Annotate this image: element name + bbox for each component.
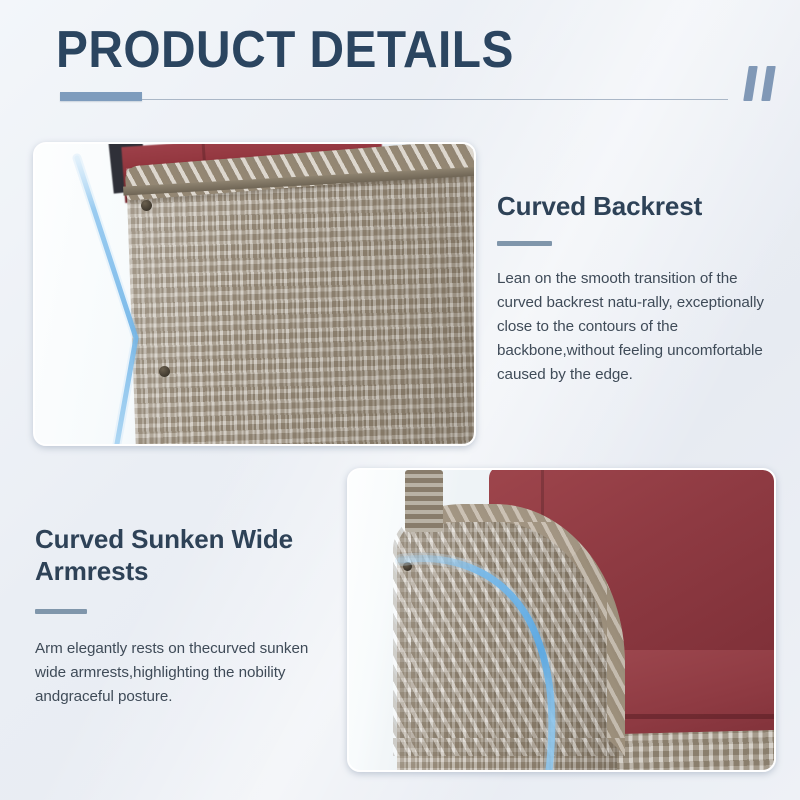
photo-curved-backrest: [33, 142, 476, 446]
photo-curved-sunken-armrest: [347, 468, 776, 772]
title-rule: [142, 99, 728, 100]
feature-heading: Curved Sunken Wide Armrests: [35, 523, 315, 587]
double-slash-mark-icon: [744, 66, 784, 102]
feature-heading: Curved Backrest: [497, 190, 769, 222]
title-accent-bar: [60, 92, 142, 101]
product-details-infographic: PRODUCT DETAILS: [0, 0, 800, 800]
feature-divider: [497, 241, 552, 246]
feature-body-text: Arm elegantly rests on thecurved sunken …: [35, 637, 315, 709]
photo-curved-sunken-armrest-image: [349, 470, 774, 770]
feature-divider: [35, 609, 87, 614]
feature-block-curved-backrest: Curved Backrest Lean on the smooth trans…: [497, 190, 769, 387]
header: PRODUCT DETAILS: [0, 0, 800, 125]
slash-bar-2: [761, 66, 776, 101]
photo-curved-backrest-image: [35, 144, 474, 444]
slash-bar-1: [743, 66, 758, 101]
blue-contour-annotation-icon: [35, 144, 474, 444]
feature-body-text: Lean on the smooth transition of the cur…: [497, 267, 769, 387]
page-title: PRODUCT DETAILS: [56, 22, 514, 78]
blue-contour-annotation-icon: [349, 470, 774, 770]
feature-block-curved-sunken-wide-armrests: Curved Sunken Wide Armrests Arm elegantl…: [35, 523, 315, 709]
